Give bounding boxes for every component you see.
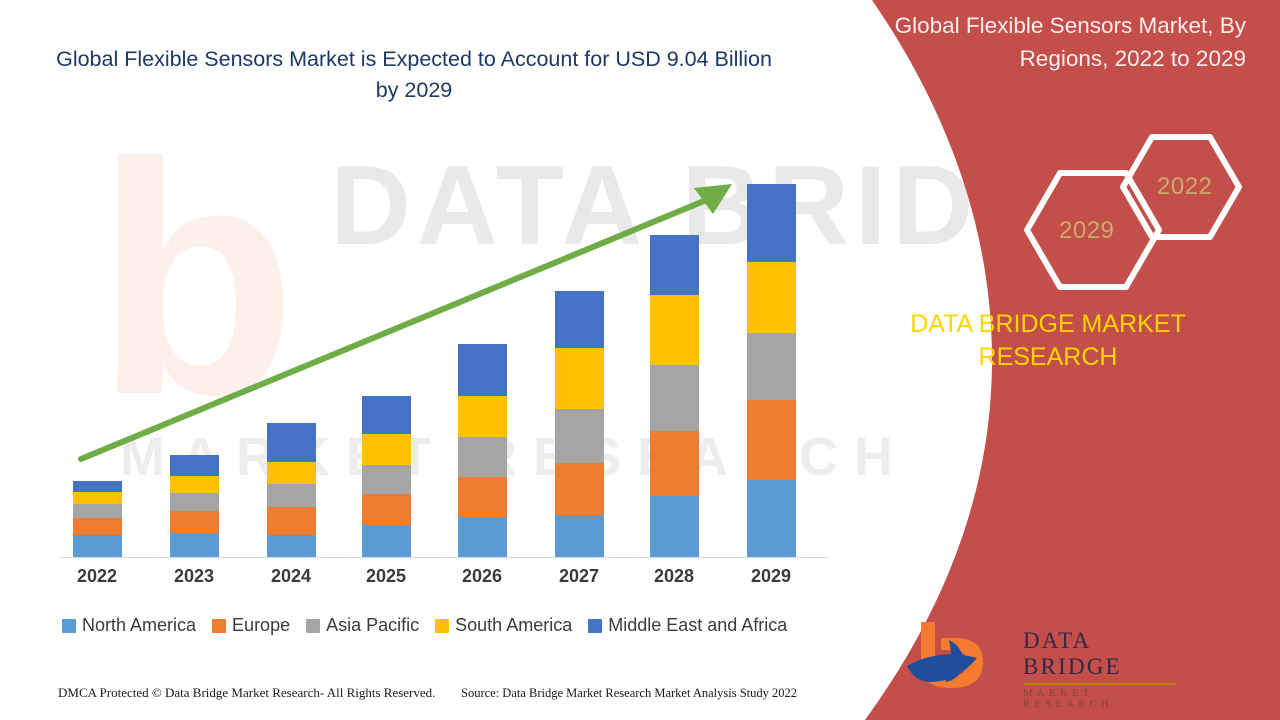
panel-title: Global Flexible Sensors Market, By Regio…: [854, 10, 1246, 75]
x-axis-label-2029: 2029: [731, 566, 811, 587]
chart-legend: North AmericaEuropeAsia PacificSouth Ame…: [62, 615, 787, 636]
bar-segment-2029-south-america: [747, 262, 796, 333]
bar-segment-2026-middle-east-and-africa: [458, 344, 507, 396]
bar-segment-2023-asia-pacific: [170, 493, 219, 511]
bar-2024: [267, 423, 316, 557]
bar-segment-2027-europe: [555, 463, 604, 515]
bar-segment-2023-europe: [170, 511, 219, 533]
bar-segment-2025-europe: [362, 494, 411, 525]
x-axis-label-2026: 2026: [442, 566, 522, 587]
year-hexagons: 2029 2022: [985, 125, 1245, 295]
bar-2029: [747, 184, 796, 557]
x-axis-label-2027: 2027: [539, 566, 619, 587]
bar-segment-2022-europe: [73, 518, 122, 535]
bar-segment-2024-europe: [267, 507, 316, 535]
x-axis-label-2025: 2025: [346, 566, 426, 587]
logo-mark-icon: [905, 618, 1015, 690]
bar-segment-2029-europe: [747, 400, 796, 480]
bar-segment-2029-middle-east-and-africa: [747, 184, 796, 262]
bar-segment-2028-south-america: [650, 295, 699, 365]
bar-segment-2026-europe: [458, 477, 507, 517]
legend-item-middle-east-and-africa[interactable]: Middle East and Africa: [588, 615, 787, 636]
footer-copyright: DMCA Protected © Data Bridge Market Rese…: [58, 685, 435, 701]
bar-segment-2027-middle-east-and-africa: [555, 291, 604, 348]
legend-item-north-america[interactable]: North America: [62, 615, 196, 636]
bar-segment-2025-middle-east-and-africa: [362, 396, 411, 434]
logo-divider: [1024, 683, 1176, 685]
bar-segment-2023-south-america: [170, 476, 219, 493]
bar-segment-2024-north-america: [267, 535, 316, 557]
bar-2026: [458, 344, 507, 557]
bar-segment-2027-south-america: [555, 348, 604, 409]
legend-swatch-icon: [435, 619, 449, 633]
logo-main-text: DATA BRIDGE: [1023, 628, 1176, 680]
legend-label: Europe: [232, 615, 290, 636]
bar-segment-2022-asia-pacific: [73, 504, 122, 518]
logo-sub-text: MARKET RESEARCH: [1023, 688, 1176, 710]
bar-segment-2029-north-america: [747, 480, 796, 557]
infographic-canvas: b DATA BRIDGE MARKET RESEARCH Global Fle…: [0, 0, 1280, 720]
x-axis-label-2024: 2024: [251, 566, 331, 587]
bar-segment-2024-middle-east-and-africa: [267, 423, 316, 462]
bar-2025: [362, 396, 411, 557]
bar-segment-2023-middle-east-and-africa: [170, 455, 219, 476]
brand-line-1: DATA BRIDGE MARKET: [910, 310, 1186, 338]
bar-segment-2025-south-america: [362, 434, 411, 465]
legend-swatch-icon: [306, 619, 320, 633]
legend-label: North America: [82, 615, 196, 636]
bar-2022: [73, 481, 122, 557]
footer-source: Source: Data Bridge Market Research Mark…: [461, 686, 797, 701]
legend-item-south-america[interactable]: South America: [435, 615, 572, 636]
bar-2027: [555, 291, 604, 557]
brand-name: DATA BRIDGE MARKET RESEARCH: [848, 308, 1248, 374]
bar-segment-2026-south-america: [458, 396, 507, 437]
dbmr-logo: DATA BRIDGE MARKET RESEARCH: [905, 618, 1125, 690]
x-axis-label-2028: 2028: [634, 566, 714, 587]
bar-segment-2027-north-america: [555, 515, 604, 557]
bar-segment-2028-middle-east-and-africa: [650, 235, 699, 295]
stacked-bar-series: [0, 0, 840, 560]
bar-segment-2028-europe: [650, 431, 699, 496]
legend-item-europe[interactable]: Europe: [212, 615, 290, 636]
legend-label: South America: [455, 615, 572, 636]
bar-segment-2024-asia-pacific: [267, 484, 316, 507]
bar-segment-2024-south-america: [267, 462, 316, 484]
bar-segment-2022-middle-east-and-africa: [73, 481, 122, 492]
hexagon-2029-label: 2029: [1059, 217, 1114, 245]
hexagon-2022-label: 2022: [1157, 173, 1212, 201]
bar-2028: [650, 235, 699, 557]
legend-item-asia-pacific[interactable]: Asia Pacific: [306, 615, 419, 636]
bar-segment-2027-asia-pacific: [555, 409, 604, 463]
legend-label: Asia Pacific: [326, 615, 419, 636]
legend-swatch-icon: [588, 619, 602, 633]
bar-segment-2022-south-america: [73, 492, 122, 504]
legend-swatch-icon: [62, 619, 76, 633]
bar-segment-2022-north-america: [73, 535, 122, 557]
brand-line-2: RESEARCH: [979, 343, 1118, 371]
bar-segment-2028-asia-pacific: [650, 365, 699, 431]
bar-2023: [170, 455, 219, 557]
legend-swatch-icon: [212, 619, 226, 633]
bar-segment-2029-asia-pacific: [747, 333, 796, 400]
bar-segment-2023-north-america: [170, 533, 219, 557]
bar-segment-2028-north-america: [650, 496, 699, 557]
x-axis-label-2022: 2022: [57, 566, 137, 587]
bar-segment-2026-asia-pacific: [458, 437, 507, 477]
bar-segment-2025-asia-pacific: [362, 465, 411, 494]
x-axis-labels: 20222023202420252026202720282029: [0, 566, 840, 596]
x-axis-label-2023: 2023: [154, 566, 234, 587]
legend-label: Middle East and Africa: [608, 615, 787, 636]
bar-segment-2025-north-america: [362, 525, 411, 557]
bar-segment-2026-north-america: [458, 517, 507, 557]
